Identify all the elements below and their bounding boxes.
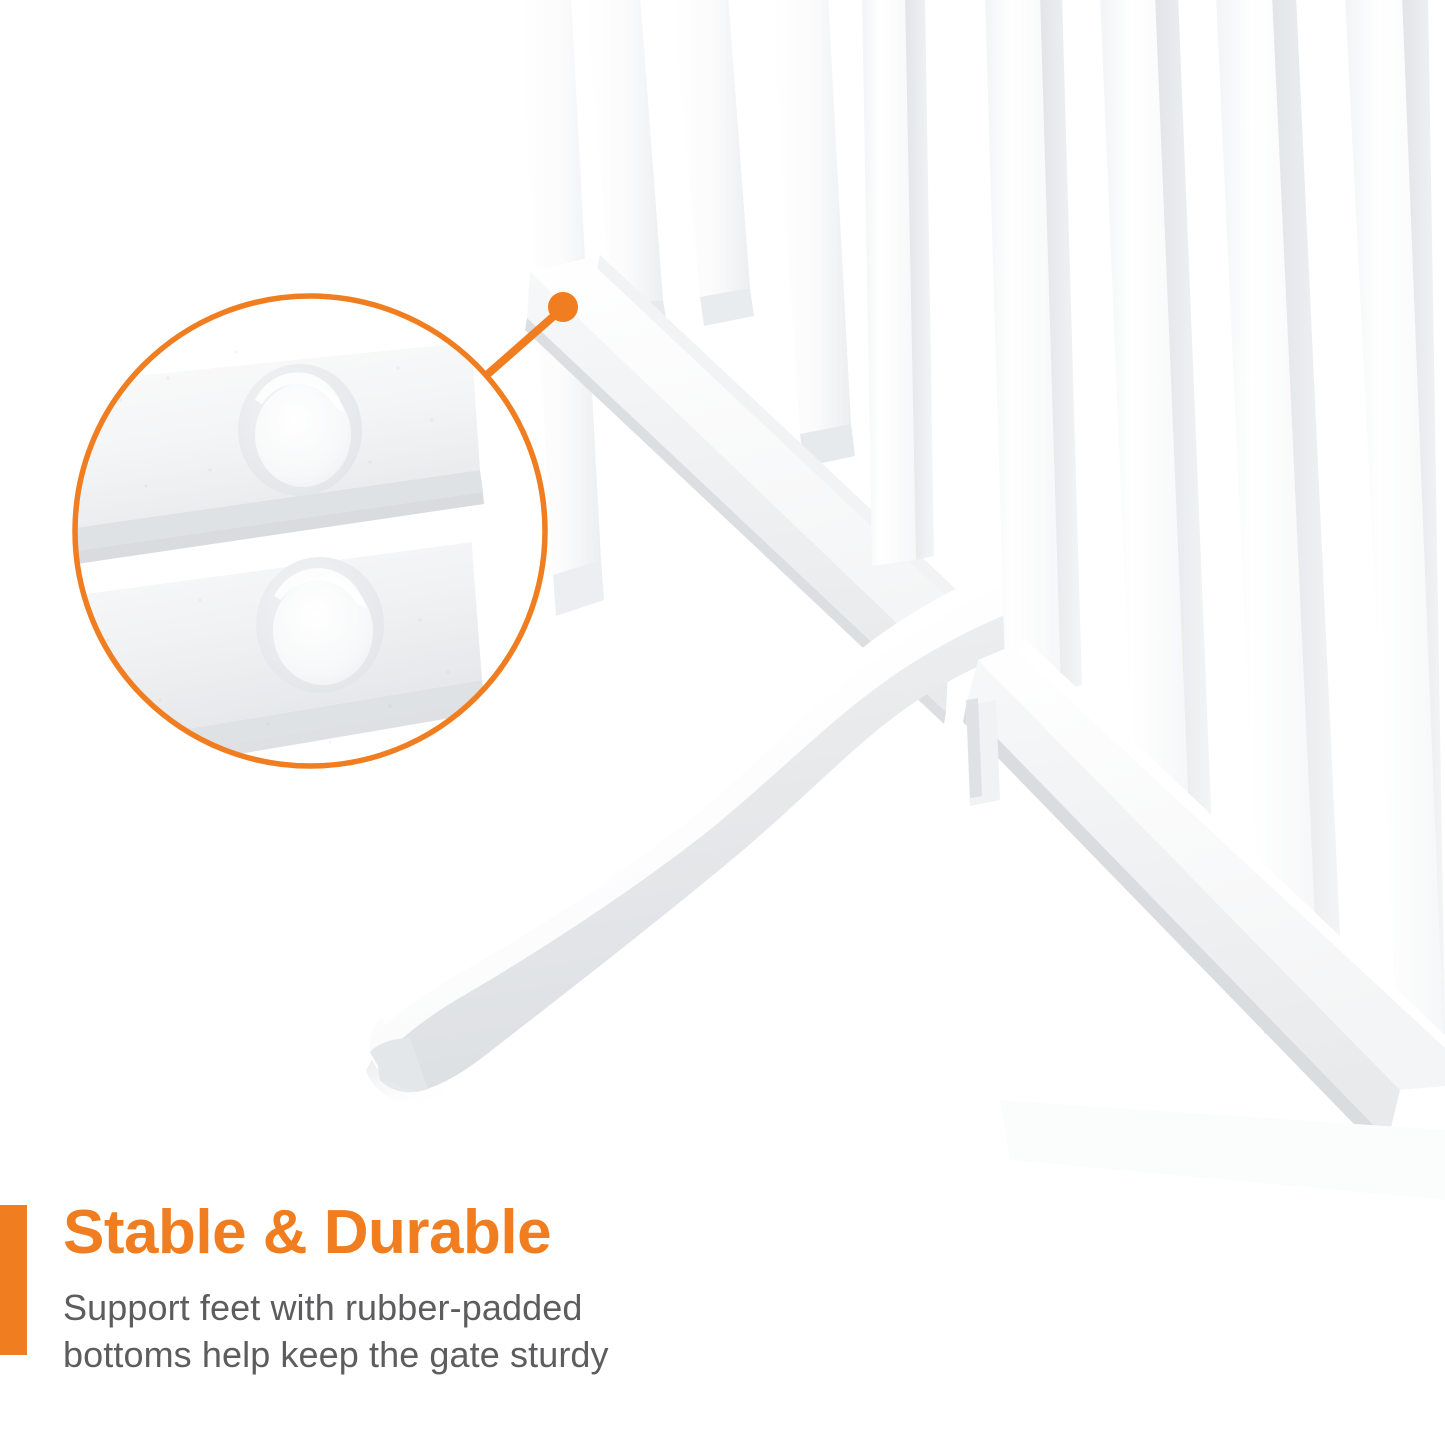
- accent-bar: [0, 1205, 27, 1355]
- product-feature-image: Stable & Durable Support feet with rubbe…: [0, 0, 1445, 1445]
- caption-block: Stable & Durable Support feet with rubbe…: [0, 1196, 900, 1396]
- subtitle-line-1: Support feet with rubber-padded: [63, 1284, 609, 1331]
- subtitle: Support feet with rubber-padded bottoms …: [63, 1284, 609, 1378]
- headline: Stable & Durable: [63, 1196, 551, 1270]
- subtitle-line-2: bottoms help keep the gate sturdy: [63, 1331, 609, 1378]
